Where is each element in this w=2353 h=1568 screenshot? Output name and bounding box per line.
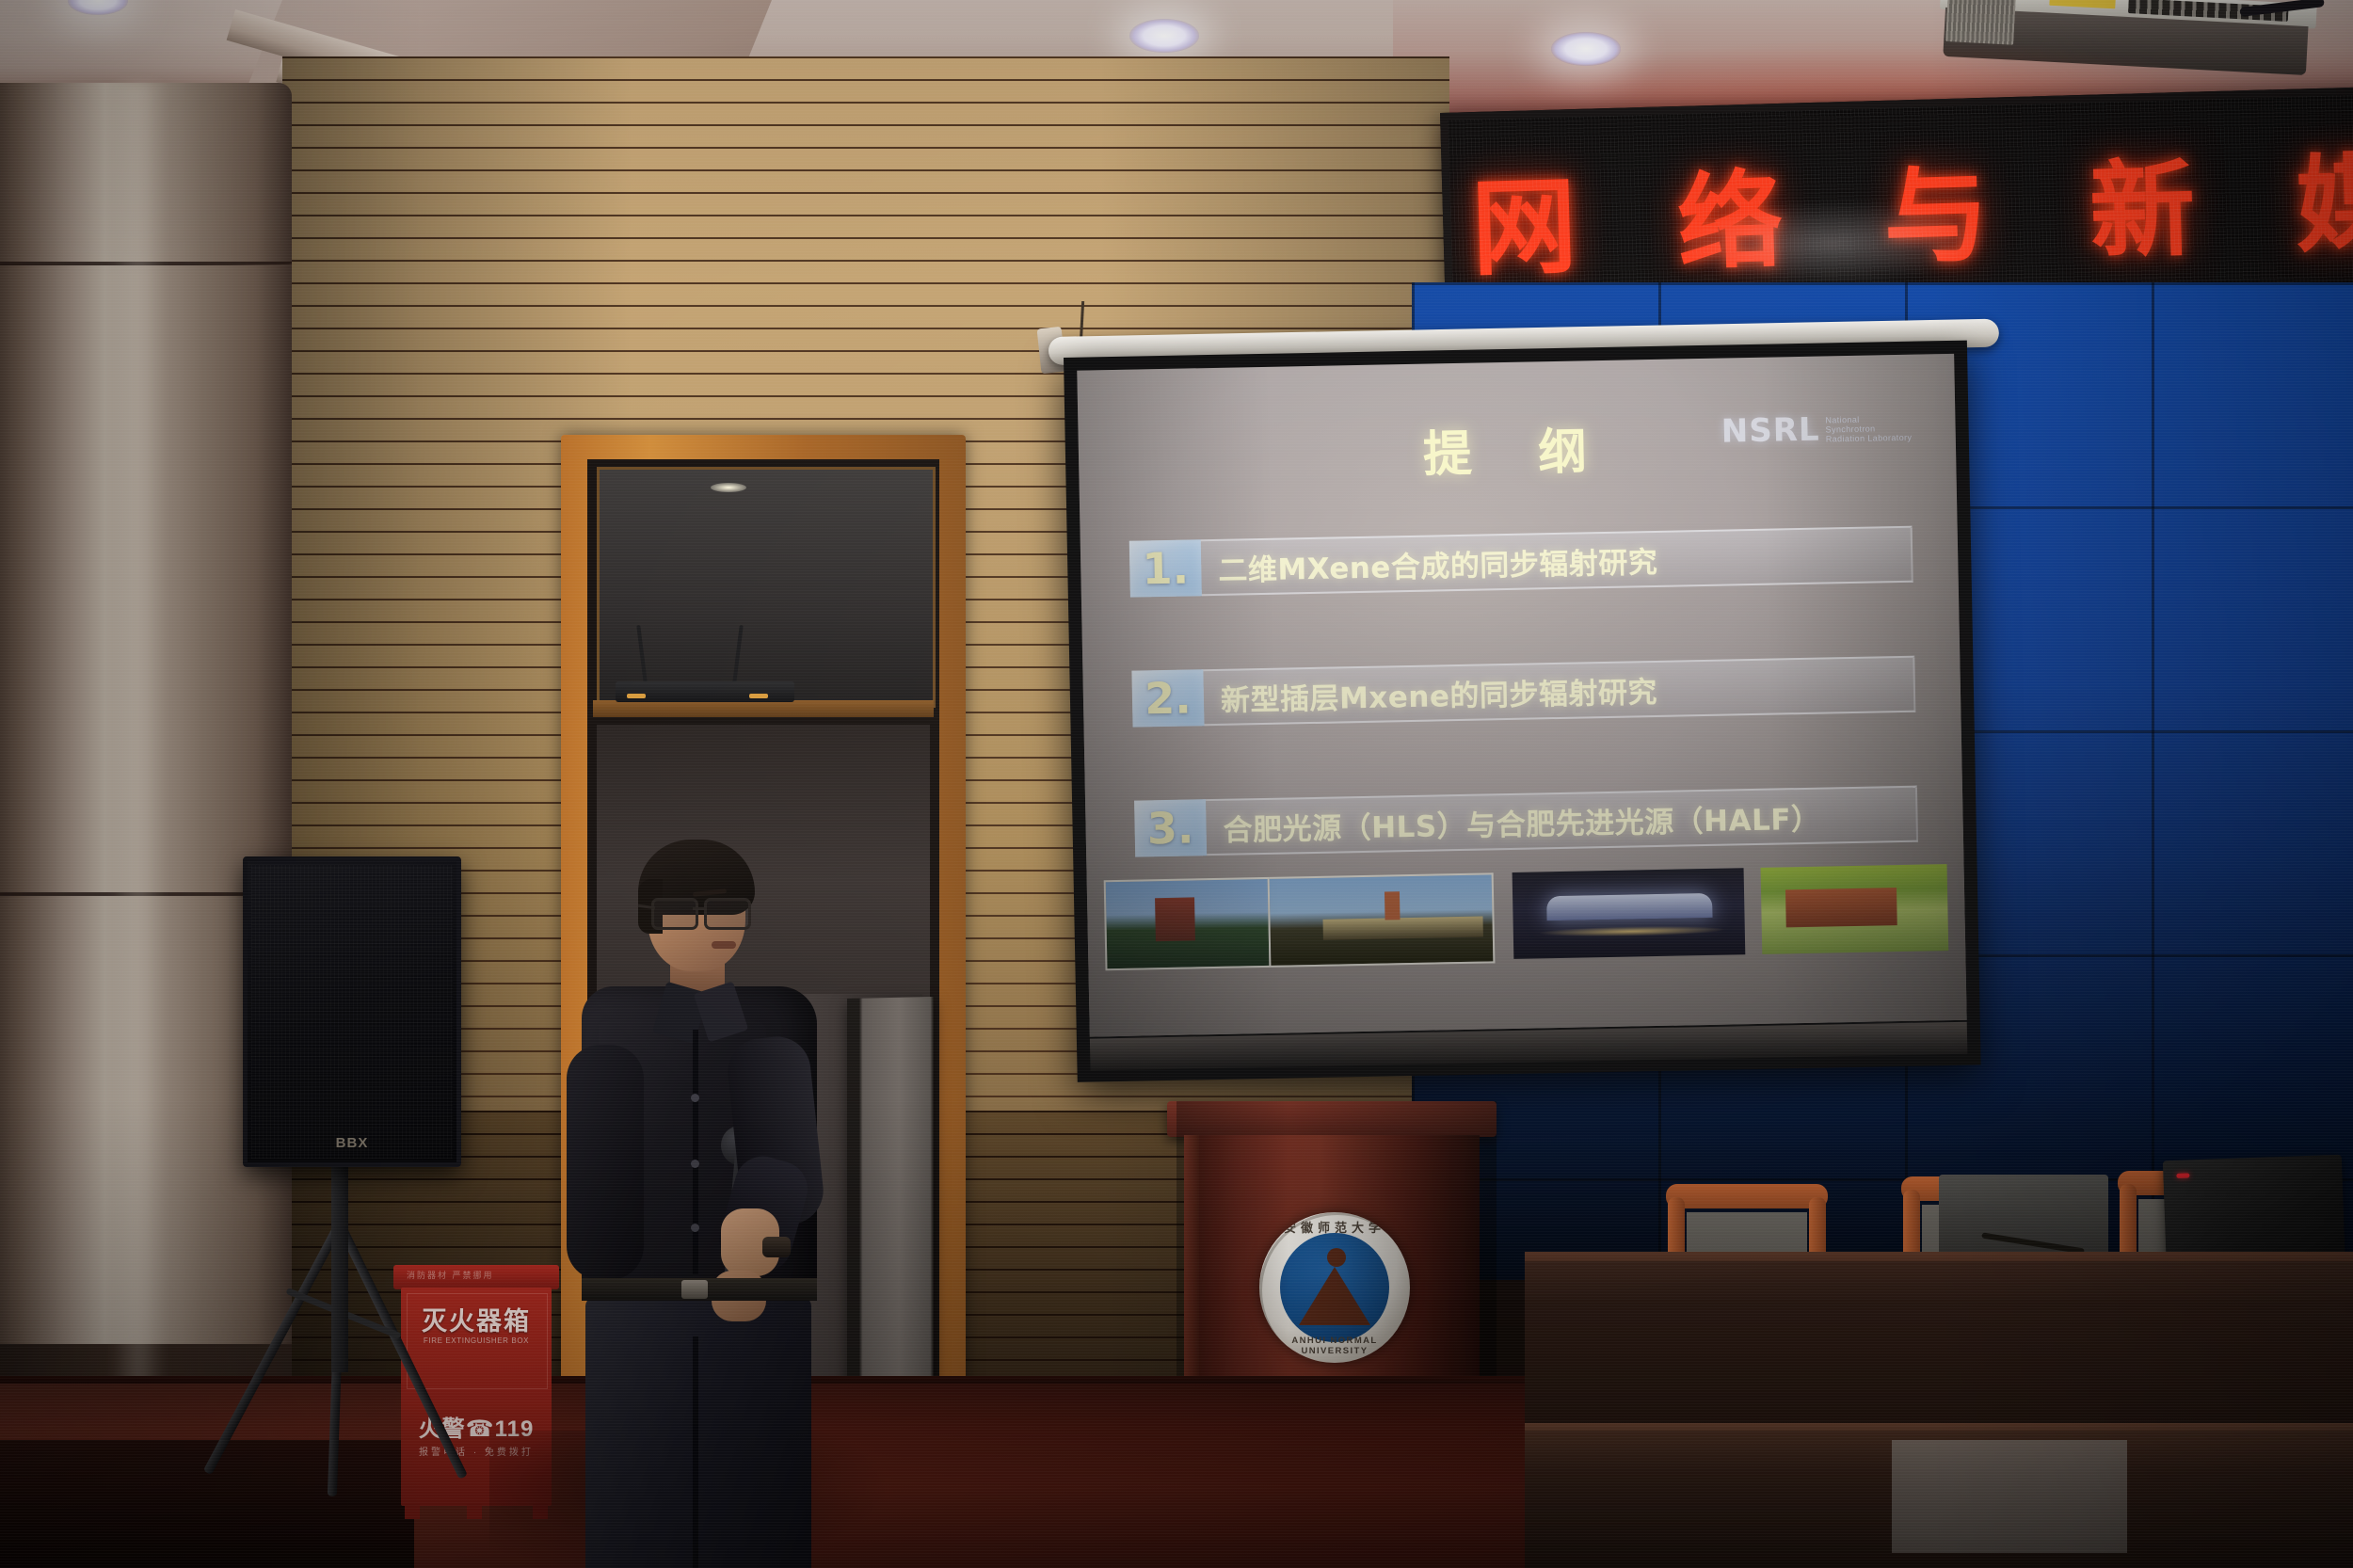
shirt-button — [691, 1094, 699, 1102]
outline-item-label: 新型插层Mxene的同步辐射研究 — [1221, 667, 1658, 718]
photo-campus-building-daylight — [1104, 877, 1272, 970]
seal-sun-motif — [1327, 1248, 1346, 1267]
door-ledge — [593, 700, 934, 717]
outline-number-badge: 2. — [1131, 669, 1204, 727]
wireless-router — [616, 664, 794, 702]
glass-reflection — [711, 483, 746, 492]
shirt-placket — [693, 1030, 698, 1274]
seal-english-name: ANHUI NORMAL UNIVERSITY — [1259, 1336, 1410, 1356]
podium-top-surface — [1167, 1101, 1497, 1137]
column-highlight — [111, 83, 166, 1400]
lecture-hall-photo: 网 络 与 新 媒 提 纲 NSRL National Synchrotron … — [0, 0, 2353, 1568]
presenter-leg-seam — [693, 1336, 698, 1568]
shirt-button — [691, 1224, 699, 1232]
outline-text-bar: 新型插层Mxene的同步辐射研究 — [1203, 656, 1915, 727]
outline-text-bar: 二维MXene合成的同步辐射研究 — [1201, 526, 1913, 597]
outline-item: 1. 二维MXene合成的同步辐射研究 — [1129, 526, 1913, 598]
floor-shadow-left — [0, 1440, 414, 1568]
eyeglass-lens-left — [651, 898, 698, 930]
ceiling-downlight-right — [1551, 32, 1621, 66]
outline-item-label: 合肥光源（HLS）与合肥先进光源（HALF） — [1223, 794, 1821, 848]
speaker-brand-label: BBX — [248, 1135, 456, 1151]
projection-surface: 提 纲 NSRL National Synchrotron Radiation … — [1077, 354, 1966, 1037]
slide-photo-strip — [1104, 864, 1953, 967]
belt-buckle — [681, 1280, 708, 1299]
outline-item: 3. 合肥光源（HLS）与合肥先进光源（HALF） — [1134, 786, 1918, 857]
fire-box-leg — [405, 1504, 420, 1519]
router-led-right — [749, 694, 768, 698]
photo-campus-plaza-daylight — [1270, 872, 1496, 968]
outline-number-badge: 3. — [1134, 799, 1207, 856]
router-led-left — [627, 694, 646, 698]
projection-screen[interactable]: 提 纲 NSRL National Synchrotron Radiation … — [1064, 341, 1981, 1082]
pa-loudspeaker: BBX — [243, 856, 461, 1167]
eyeglass-bridge — [693, 907, 706, 910]
seal-mountain-motif — [1299, 1267, 1370, 1325]
photo-building-aerial-green — [1761, 864, 1949, 954]
projector-vent-grille — [1945, 0, 2016, 45]
wristwatch — [762, 1237, 791, 1257]
laptop-logo-icon — [2176, 1173, 2189, 1177]
shirt-button — [691, 1160, 699, 1168]
speaker-grille — [251, 865, 453, 1159]
ceiling-downlight-center — [1129, 19, 1199, 53]
presenter — [527, 828, 847, 1568]
led-panel-smudge — [1676, 196, 1989, 291]
table-paper-sheet — [1892, 1440, 2127, 1553]
chair-top-rail — [1666, 1184, 1828, 1208]
eyeglass-lens-right — [704, 898, 751, 930]
router-body — [616, 681, 794, 702]
outline-item-label: 二维MXene合成的同步辐射研究 — [1218, 537, 1658, 588]
university-seal: 安徽师范大学 ANHUI NORMAL UNIVERSITY — [1259, 1212, 1410, 1363]
presenter-arm-left — [567, 1045, 644, 1280]
nsrl-logo-main: NSRL — [1721, 411, 1820, 451]
outline-number-badge: 1. — [1129, 539, 1202, 597]
fire-box-hood-text: 消防器材 严禁挪用 — [407, 1269, 494, 1281]
presenter-legs — [585, 1297, 811, 1568]
nsrl-logo: NSRL National Synchrotron Radiation Labo… — [1721, 409, 1913, 451]
eyeglasses-icon — [651, 898, 751, 926]
fire-box-leg — [467, 1504, 482, 1519]
photo-facility-ring-night — [1513, 868, 1746, 959]
speaker-stand-pole — [331, 1150, 348, 1372]
nsrl-logo-subtitle: National Synchrotron Radiation Laborator… — [1825, 414, 1913, 449]
outline-text-bar: 合肥光源（HLS）与合肥先进光源（HALF） — [1206, 786, 1918, 856]
seal-blue-disc — [1280, 1233, 1389, 1342]
presenter-mouth — [712, 941, 736, 949]
outline-item: 2. 新型插层Mxene的同步辐射研究 — [1131, 656, 1915, 728]
